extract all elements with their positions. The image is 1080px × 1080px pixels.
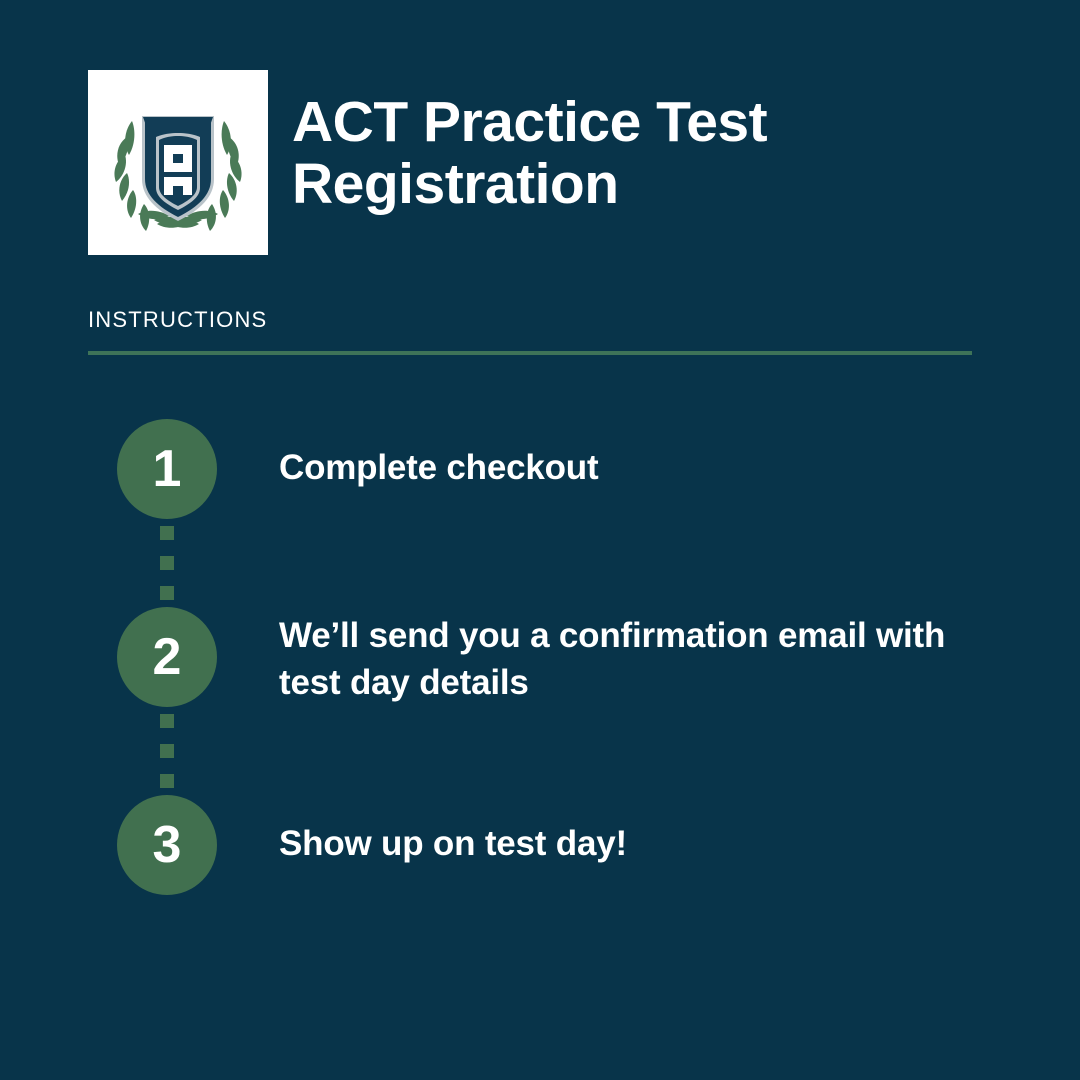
instruction-steps-list: 1 Complete checkout 2 We’ll send you a c… (117, 419, 1017, 895)
list-item: 3 Show up on test day! (117, 795, 1017, 895)
connector-dot (160, 714, 174, 728)
connector-dot (160, 526, 174, 540)
step-description: We’ll send you a confirmation email with… (279, 607, 979, 706)
header: ACT Practice Test Registration (88, 70, 912, 255)
list-item: 1 Complete checkout (117, 419, 1017, 519)
step-connector-dots (117, 519, 217, 607)
page-title: ACT Practice Test Registration (292, 70, 912, 215)
list-item: 2 We’ll send you a confirmation email wi… (117, 607, 1017, 707)
connector-dot (160, 744, 174, 758)
connector-dot (160, 774, 174, 788)
step-description: Show up on test day! (279, 795, 627, 868)
step-connector-dots (117, 707, 217, 795)
shield-laurel-crest-logo (102, 87, 254, 239)
instructions-label: INSTRUCTIONS (88, 307, 267, 333)
logo-card (88, 70, 268, 255)
step-description: Complete checkout (279, 419, 598, 492)
step-number-badge: 3 (117, 795, 217, 895)
step-number-badge: 2 (117, 607, 217, 707)
step-number-badge: 1 (117, 419, 217, 519)
registration-instructions-card: ACT Practice Test Registration INSTRUCTI… (0, 0, 1080, 1080)
connector-dot (160, 586, 174, 600)
section-divider (88, 351, 972, 355)
connector-dot (160, 556, 174, 570)
